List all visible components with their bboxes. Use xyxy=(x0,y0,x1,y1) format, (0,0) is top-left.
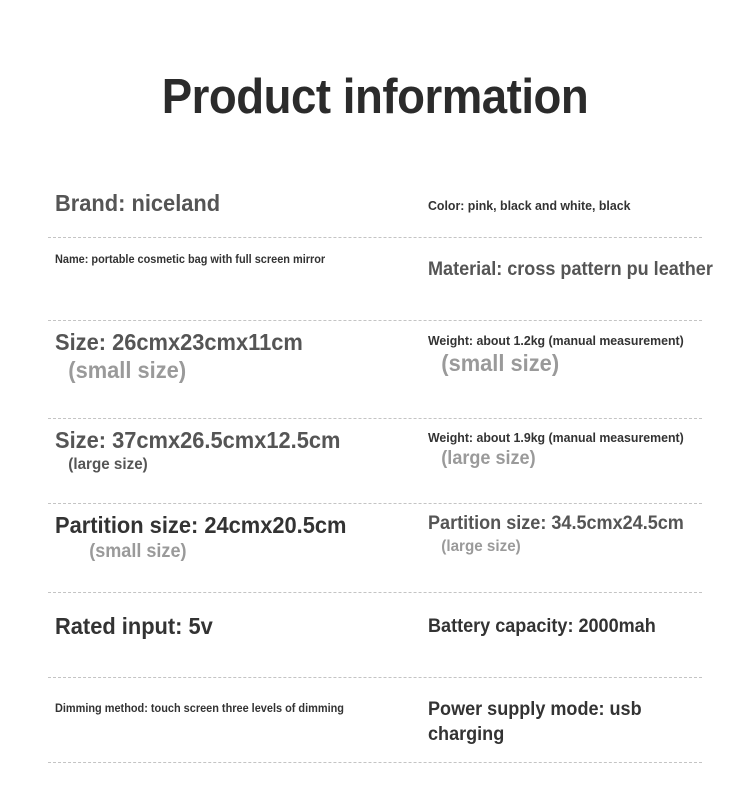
spec-cell-rated-input: Rated input: 5v xyxy=(55,612,425,640)
product-information-page: Product information Brand: niceland Colo… xyxy=(0,0,750,801)
table-row: Brand: niceland Color: pink, black and w… xyxy=(0,180,750,237)
spec-cell-size-small: Size: 26cmx23cmx11cm (small size) xyxy=(55,328,425,384)
spec-cell-material: Material: cross pattern pu leather xyxy=(428,257,738,282)
spec-cell-power-supply: Power supply mode: usb charging xyxy=(428,697,738,747)
row-divider xyxy=(48,762,702,763)
spec-cell-size-large: Size: 37cmx26.5cmx12.5cm (large size) xyxy=(55,426,425,475)
spec-label-material: Material: cross pattern pu leather xyxy=(428,257,723,282)
spec-sublabel-weight-large: (large size) xyxy=(428,446,723,471)
spec-sublabel-size-small: (small size) xyxy=(55,356,407,384)
spec-sublabel-partition-small: (small size) xyxy=(55,539,407,564)
spec-cell-partition-small: Partition size: 24cmx20.5cm (small size) xyxy=(55,511,425,564)
spec-sublabel-weight-small: (small size) xyxy=(428,349,723,377)
spec-cell-battery-capacity: Battery capacity: 2000mah xyxy=(428,614,738,639)
spec-cell-brand: Brand: niceland xyxy=(55,189,425,217)
spec-label-power-supply: Power supply mode: usb charging xyxy=(428,697,723,747)
spec-label-weight-small: Weight: about 1.2kg (manual measurement) xyxy=(428,332,723,349)
spec-sublabel-size-large: (large size) xyxy=(55,454,407,475)
spec-cell-partition-large: Partition size: 34.5cmx24.5cm (large siz… xyxy=(428,511,738,557)
spec-label-size-large: Size: 37cmx26.5cmx12.5cm xyxy=(55,426,407,454)
spec-label-name: Name: portable cosmetic bag with full sc… xyxy=(55,253,340,268)
page-title: Product information xyxy=(26,68,724,126)
spec-label-partition-large: Partition size: 34.5cmx24.5cm xyxy=(428,511,723,536)
spec-cell-weight-large: Weight: about 1.9kg (manual measurement)… xyxy=(428,429,738,471)
spec-label-weight-large: Weight: about 1.9kg (manual measurement) xyxy=(428,429,723,446)
spec-sublabel-partition-large: (large size) xyxy=(428,536,723,557)
spec-cell-name: Name: portable cosmetic bag with full sc… xyxy=(55,253,355,268)
specification-table: Brand: niceland Color: pink, black and w… xyxy=(0,180,750,762)
spec-cell-dimming-method: Dimming method: touch screen three level… xyxy=(55,702,395,717)
table-row: Size: 37cmx26.5cmx12.5cm (large size) We… xyxy=(0,418,750,503)
spec-label-brand: Brand: niceland xyxy=(55,189,407,217)
spec-cell-weight-small: Weight: about 1.2kg (manual measurement)… xyxy=(428,332,738,377)
table-row: Partition size: 24cmx20.5cm (small size)… xyxy=(0,503,750,592)
table-row: Size: 26cmx23cmx11cm (small size) Weight… xyxy=(0,320,750,418)
table-row: Rated input: 5v Battery capacity: 2000ma… xyxy=(0,592,750,677)
spec-label-size-small: Size: 26cmx23cmx11cm xyxy=(55,328,407,356)
spec-label-partition-small: Partition size: 24cmx20.5cm xyxy=(55,511,407,539)
spec-label-dimming-method: Dimming method: touch screen three level… xyxy=(55,702,378,717)
table-row: Dimming method: touch screen three level… xyxy=(0,677,750,762)
table-row: Name: portable cosmetic bag with full sc… xyxy=(0,237,750,320)
spec-cell-color: Color: pink, black and white, black xyxy=(428,197,738,214)
spec-label-rated-input: Rated input: 5v xyxy=(55,612,407,640)
spec-label-color: Color: pink, black and white, black xyxy=(428,197,723,214)
spec-label-battery-capacity: Battery capacity: 2000mah xyxy=(428,614,723,639)
